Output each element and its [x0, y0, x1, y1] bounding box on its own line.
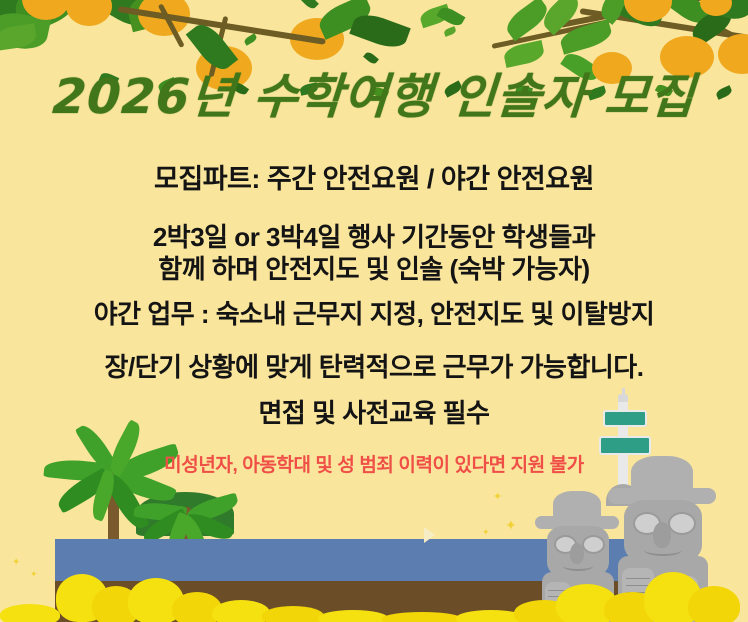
- page-title: 2026년 수학여행 인솔자 모집: [0, 72, 748, 122]
- night-duty-line: 야간 업무 : 숙소내 근무지 지정, 안전지도 및 이탈방지: [0, 299, 748, 331]
- duty-description-line-b: 함께 하며 안전지도 및 인솔 (숙박 가능자): [158, 254, 589, 284]
- eligibility-warning: 미성년자, 아동학대 및 성 범죄 이력이 있다면 지원 불가: [0, 450, 748, 477]
- recruit-part-line: 모집파트: 주간 안전요원 / 야간 안전요원: [0, 163, 748, 196]
- flexible-work-line: 장/단기 상황에 맞게 탄력적으로 근무가 가능합니다.: [0, 352, 748, 384]
- duty-description-line-a: 2박3일 or 3박4일 행사 기간동안 학생들과: [153, 222, 595, 252]
- interview-required-line: 면접 및 사전교육 필수: [0, 398, 748, 430]
- poster-canvas: ✦ ✦ ✦ ✦ ✦ ✦ ✦: [0, 0, 748, 622]
- poster-text-layer: 2026년 수학여행 인솔자 모집 모집파트: 주간 안전요원 / 야간 안전요…: [0, 0, 748, 622]
- duty-description-line: 2박3일 or 3박4일 행사 기간동안 학생들과 함께 하며 안전지도 및 인…: [0, 222, 748, 285]
